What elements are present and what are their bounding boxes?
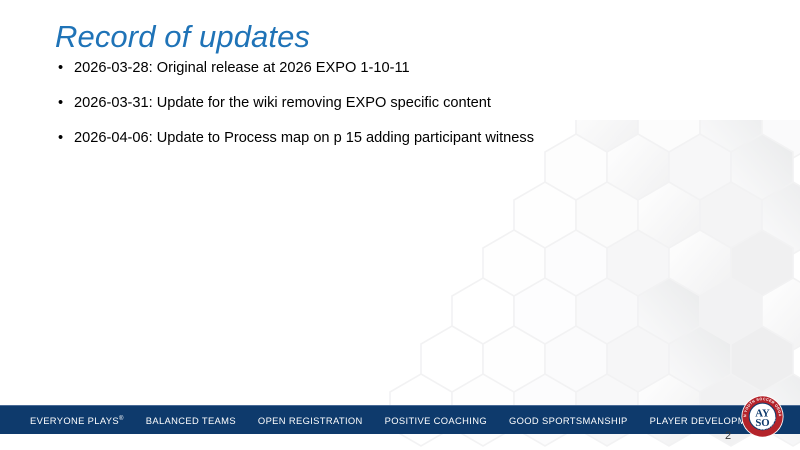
- footer-band: EVERYONE PLAYS® BALANCED TEAMS OPEN REGI…: [0, 405, 800, 434]
- logo-monogram-so: SO: [755, 417, 769, 429]
- page-title: Record of updates: [55, 19, 310, 55]
- page-number: 2: [718, 430, 738, 442]
- list-item: • 2026-04-06: Update to Process map on p…: [55, 128, 745, 148]
- slide-canvas: Record of updates • 2026-03-28: Original…: [0, 0, 800, 450]
- list-item-text: 2026-03-31: Update for the wiki removing…: [74, 95, 491, 111]
- footer-tagline-label: EVERYONE PLAYS: [30, 415, 119, 426]
- footer-tagline-positive-coaching: POSITIVE COACHING: [385, 415, 487, 426]
- registered-trademark-icon: ®: [119, 415, 124, 421]
- list-item: • 2026-03-28: Original release at 2026 E…: [55, 58, 745, 78]
- record-of-updates-list: • 2026-03-28: Original release at 2026 E…: [55, 58, 745, 163]
- bullet-icon: •: [58, 128, 63, 148]
- footer-tagline-open-registration: OPEN REGISTRATION: [258, 415, 363, 426]
- list-item-text: 2026-03-28: Original release at 2026 EXP…: [74, 60, 410, 76]
- bullet-icon: •: [58, 93, 63, 113]
- footer-tagline-everyone-plays: EVERYONE PLAYS®: [30, 415, 124, 426]
- footer-tagline-balanced-teams: BALANCED TEAMS: [146, 415, 236, 426]
- bullet-icon: •: [58, 58, 63, 78]
- ayso-logo: AMERICAN YOUTH SOCCER ORGANIZATION FOUND…: [741, 395, 784, 438]
- footer-tagline-group: EVERYONE PLAYS® BALANCED TEAMS OPEN REGI…: [30, 406, 766, 434]
- hexagon-background-pattern: [380, 120, 800, 450]
- footer-tagline-good-sportsmanship: GOOD SPORTSMANSHIP: [509, 415, 628, 426]
- list-item-text: 2026-04-06: Update to Process map on p 1…: [74, 130, 534, 146]
- list-item: • 2026-03-31: Update for the wiki removi…: [55, 93, 745, 113]
